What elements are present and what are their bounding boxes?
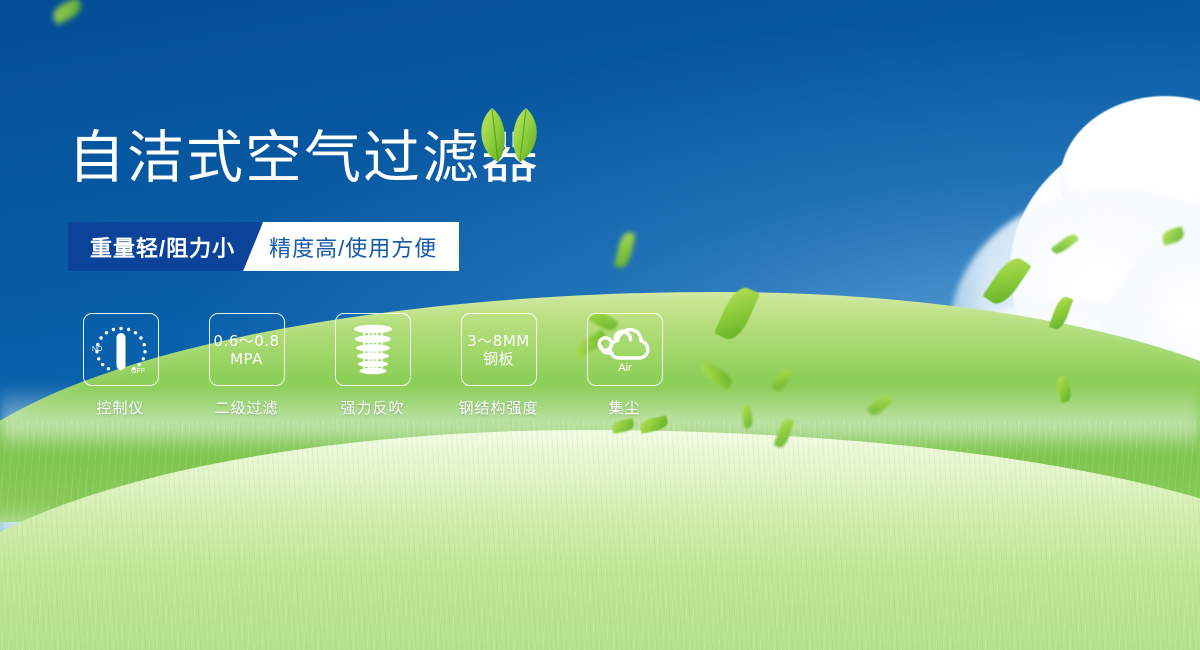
subtitle-ribbon: 重量轻/阻力小 精度高/使用方便 — [68, 222, 459, 271]
air-label: Air — [618, 362, 632, 374]
feature-label: 二级过滤 — [194, 397, 299, 418]
title-area: 自洁式空气过滤器 — [68, 118, 708, 208]
steel-thickness-value: 3～8MM — [467, 332, 529, 350]
steel-material-value: 钢板 — [467, 350, 529, 368]
feature-icon-box — [335, 313, 411, 386]
pressure-unit-value: MPA — [213, 350, 279, 368]
pressure-range-value: 0.6～0.8 — [213, 332, 279, 350]
feature-list: NO OFF 控制仪 0.6～0.8 MPA 二级过滤 — [68, 313, 708, 418]
feature-icon-box: NO OFF — [83, 313, 159, 386]
feature-item[interactable]: 强力反吹 — [320, 313, 425, 418]
feature-label: 集尘 — [572, 397, 677, 418]
filter-stack-icon — [346, 322, 400, 378]
product-banner: 自洁式空气过滤器 重量轻/阻力小 精度高/使用方便 — [0, 0, 1200, 650]
pressure-text-icon: 0.6～0.8 MPA — [213, 332, 279, 368]
feature-icon-box: 0.6～0.8 MPA — [209, 313, 285, 386]
feature-label: 钢结构强度 — [446, 397, 551, 418]
feature-item[interactable]: 0.6～0.8 MPA 二级过滤 — [194, 313, 299, 418]
page-title: 自洁式空气过滤器 — [68, 118, 708, 198]
gauge-no-label: NO — [92, 346, 103, 353]
ribbon-left-text: 重量轻/阻力小 — [68, 222, 261, 271]
gauge-icon: NO OFF — [90, 321, 152, 379]
feature-label: 强力反吹 — [320, 397, 425, 418]
feature-label: 控制仪 — [68, 397, 173, 418]
air-cloud-icon: Air — [595, 324, 655, 376]
feature-icon-box: 3～8MM 钢板 — [461, 313, 537, 386]
gauge-off-label: OFF — [131, 368, 145, 375]
ribbon-right-text: 精度高/使用方便 — [243, 222, 459, 271]
feature-item[interactable]: 3～8MM 钢板 钢结构强度 — [446, 313, 551, 418]
steel-text-icon: 3～8MM 钢板 — [467, 332, 529, 368]
sprout-leaves-icon — [468, 106, 548, 164]
feature-icon-box: Air — [587, 313, 663, 386]
feature-item[interactable]: NO OFF 控制仪 — [68, 313, 173, 418]
banner-content: 自洁式空气过滤器 重量轻/阻力小 精度高/使用方便 — [68, 118, 708, 418]
feature-item[interactable]: Air 集尘 — [572, 313, 677, 418]
